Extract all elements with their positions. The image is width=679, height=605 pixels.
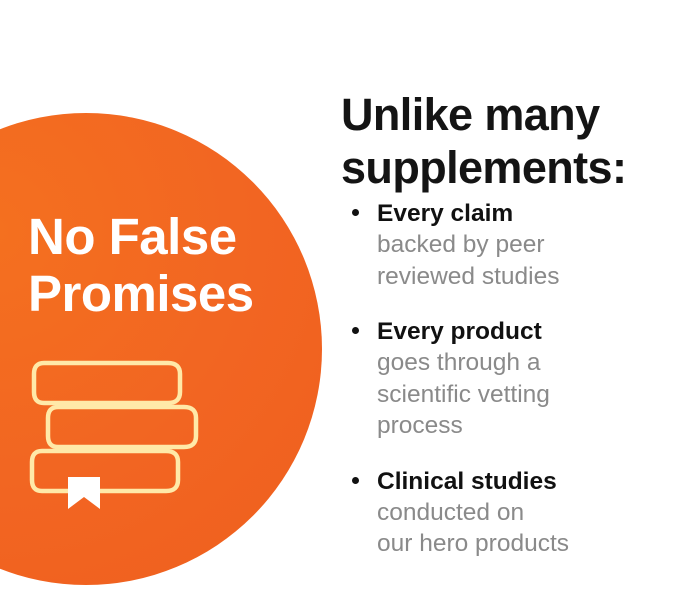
badge-panel: No False Promises [0, 0, 340, 605]
list-item-lead: Every claim [377, 198, 679, 229]
list-item-lead: Clinical studies [377, 466, 679, 497]
bullet-dot-icon [352, 477, 359, 484]
badge-title: No False Promises [28, 208, 328, 322]
list-item-detail: goes through a scientific vetting proces… [377, 347, 679, 441]
page-title-line-2: supplements: [341, 141, 671, 194]
list-item-detail-line: our hero products [377, 528, 679, 559]
bullet-dot-icon [352, 209, 359, 216]
list-item-detail: conducted on our hero products [377, 497, 679, 560]
page-title: Unlike many supplements: [341, 88, 671, 194]
page-title-line-1: Unlike many [341, 88, 671, 141]
infographic-root: No False Promises Unlike many supplement… [0, 0, 679, 605]
bullet-dot-icon [352, 327, 359, 334]
benefit-list: Every claim backed by peer reviewed stud… [344, 198, 679, 560]
copy-panel: Unlike many supplements: Every claim bac… [341, 0, 679, 605]
badge-title-line-1: No False [28, 208, 328, 265]
list-item-detail-line: goes through a [377, 347, 679, 378]
stacked-books-icon [28, 357, 208, 509]
list-item: Clinical studies conducted on our hero p… [344, 466, 679, 560]
badge-title-line-2: Promises [28, 265, 328, 322]
list-item-detail-line: conducted on [377, 497, 679, 528]
orange-circle-shape [0, 113, 322, 585]
list-item-detail-line: reviewed studies [377, 261, 679, 292]
list-item-lead: Every product [377, 316, 679, 347]
list-item-detail-line: process [377, 410, 679, 441]
list-item: Every claim backed by peer reviewed stud… [344, 198, 679, 292]
list-item-detail-line: backed by peer [377, 229, 679, 260]
list-item-detail: backed by peer reviewed studies [377, 229, 679, 292]
list-item: Every product goes through a scientific … [344, 316, 679, 441]
list-item-detail-line: scientific vetting [377, 379, 679, 410]
